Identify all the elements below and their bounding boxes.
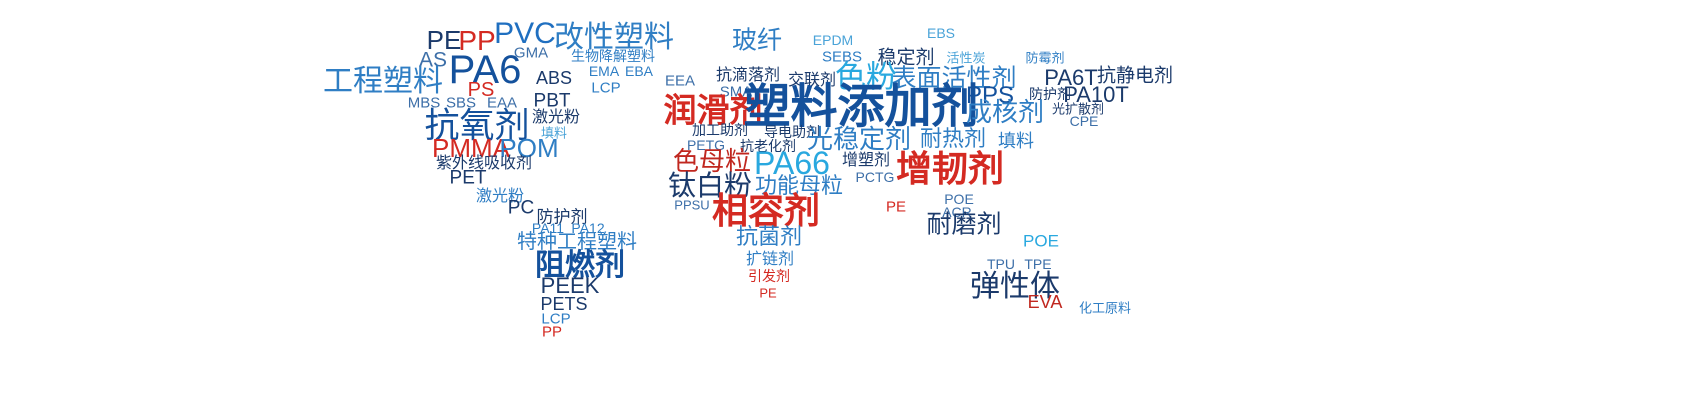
wordcloud-term[interactable]: LCP [591, 81, 620, 96]
wordcloud-term[interactable]: 增韧剂 [896, 152, 1004, 188]
wordcloud-term[interactable]: 化工原料 [1079, 303, 1131, 316]
wordcloud-term[interactable]: PE [886, 200, 906, 215]
wordcloud-term[interactable]: PPSU [674, 199, 709, 212]
wordcloud-term[interactable]: 成核剂 [966, 100, 1044, 126]
wordcloud-term[interactable]: POE [1023, 233, 1059, 250]
wordcloud-term[interactable]: EPDM [813, 33, 853, 47]
wordcloud-term[interactable]: PE [759, 287, 776, 300]
wordcloud-term[interactable]: 增塑剂 [842, 152, 890, 168]
wordcloud-term[interactable]: PET [450, 169, 487, 188]
wordcloud-term[interactable]: PP [542, 325, 562, 340]
wordcloud-term[interactable]: 耐热剂 [920, 129, 986, 151]
wordcloud-term[interactable]: EBA [625, 64, 653, 78]
wordcloud-term[interactable]: PC [508, 199, 534, 218]
wordcloud-term[interactable]: 抗菌剂 [736, 227, 802, 249]
wordcloud-term[interactable]: PCTG [856, 170, 895, 184]
wordcloud-term[interactable]: 防霉剂 [1025, 53, 1064, 66]
wordcloud-term[interactable]: 引发剂 [748, 270, 790, 284]
wordcloud-term[interactable]: 激光粉 [532, 109, 580, 125]
wordcloud-term[interactable]: 塑料添加剂 [744, 84, 979, 131]
wordcloud-term[interactable]: 工程塑料 [323, 67, 443, 97]
wordcloud-term[interactable]: 扩链剂 [746, 251, 794, 267]
wordcloud-term[interactable]: EEA [665, 74, 695, 89]
wordcloud-term[interactable]: EBS [927, 26, 955, 40]
word-cloud-canvas: PEPPPVCGMA改性塑料玻纤EPDMEBSASPA6生物降解塑料SEBS稳定… [0, 0, 1707, 400]
wordcloud-term[interactable]: 加工助剂 [692, 124, 748, 138]
wordcloud-term[interactable]: 玻纤 [732, 28, 782, 53]
wordcloud-term[interactable]: CPE [1070, 114, 1099, 128]
wordcloud-term[interactable]: EVA [1028, 293, 1063, 311]
wordcloud-term[interactable]: 耐磨剂 [926, 212, 1001, 237]
wordcloud-term[interactable]: EMA [589, 64, 619, 78]
wordcloud-term[interactable]: 生物降解塑料 [571, 50, 655, 64]
wordcloud-term[interactable]: ABS [536, 69, 572, 87]
